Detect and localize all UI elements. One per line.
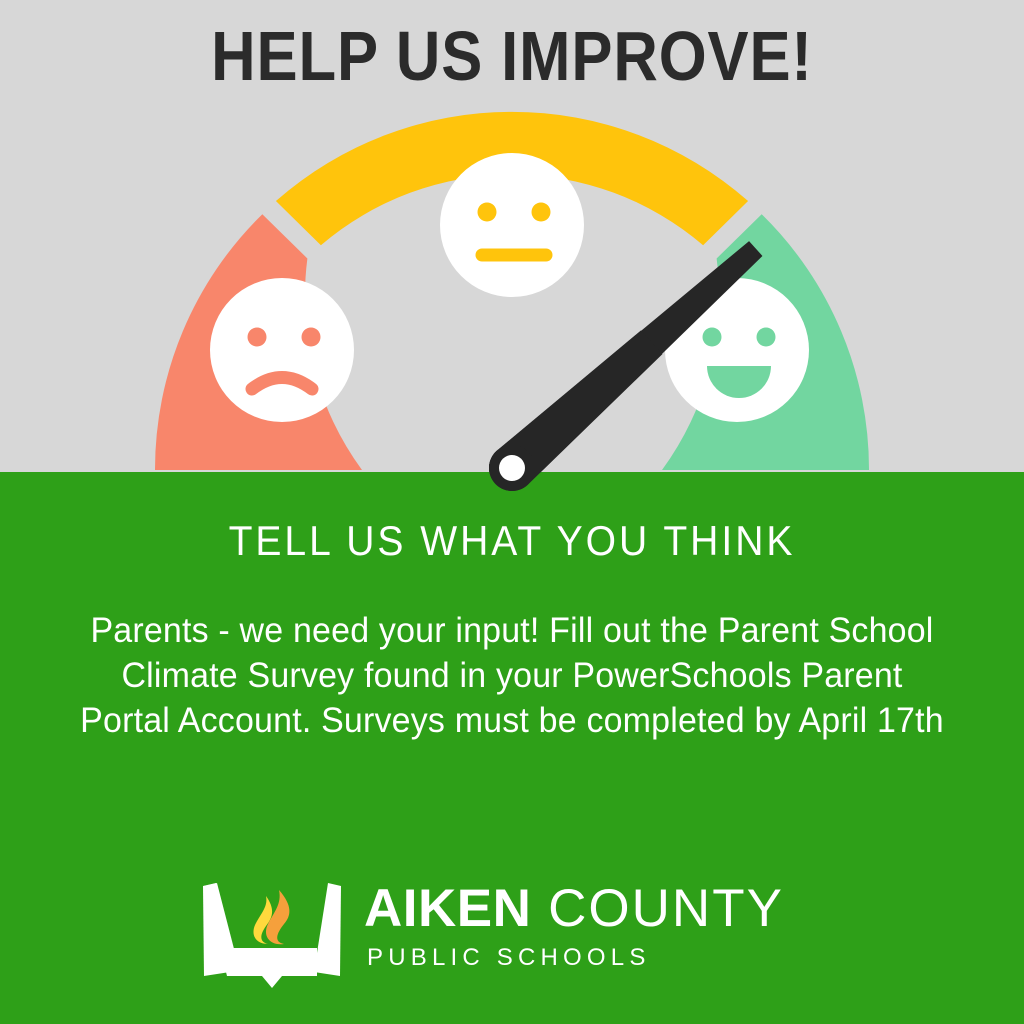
open-book-with-flame-icon <box>196 876 348 992</box>
aiken-county-public-schools-logo: AIKEN COUNTY PUBLIC SCHOOLS <box>196 876 836 992</box>
survey-promo-poster: HELP US IMPROVE! TELL US WHAT YOU THINK … <box>0 0 1024 1024</box>
subheading: TELL US WHAT YOU THINK <box>36 516 988 566</box>
neutral-face-icon <box>440 153 584 297</box>
logo-line-primary: AIKEN COUNTY <box>364 880 784 938</box>
logo-wordmark: AIKEN COUNTY PUBLIC SCHOOLS <box>364 876 834 992</box>
sad-face-icon <box>210 278 354 422</box>
page-title: HELP US IMPROVE! <box>61 18 962 94</box>
logo-line-secondary: PUBLIC SCHOOLS <box>367 944 651 972</box>
logo-county: COUNTY <box>548 879 784 938</box>
body-copy: Parents - we need your input! Fill out t… <box>76 608 949 743</box>
logo-aiken: AIKEN <box>364 879 531 938</box>
